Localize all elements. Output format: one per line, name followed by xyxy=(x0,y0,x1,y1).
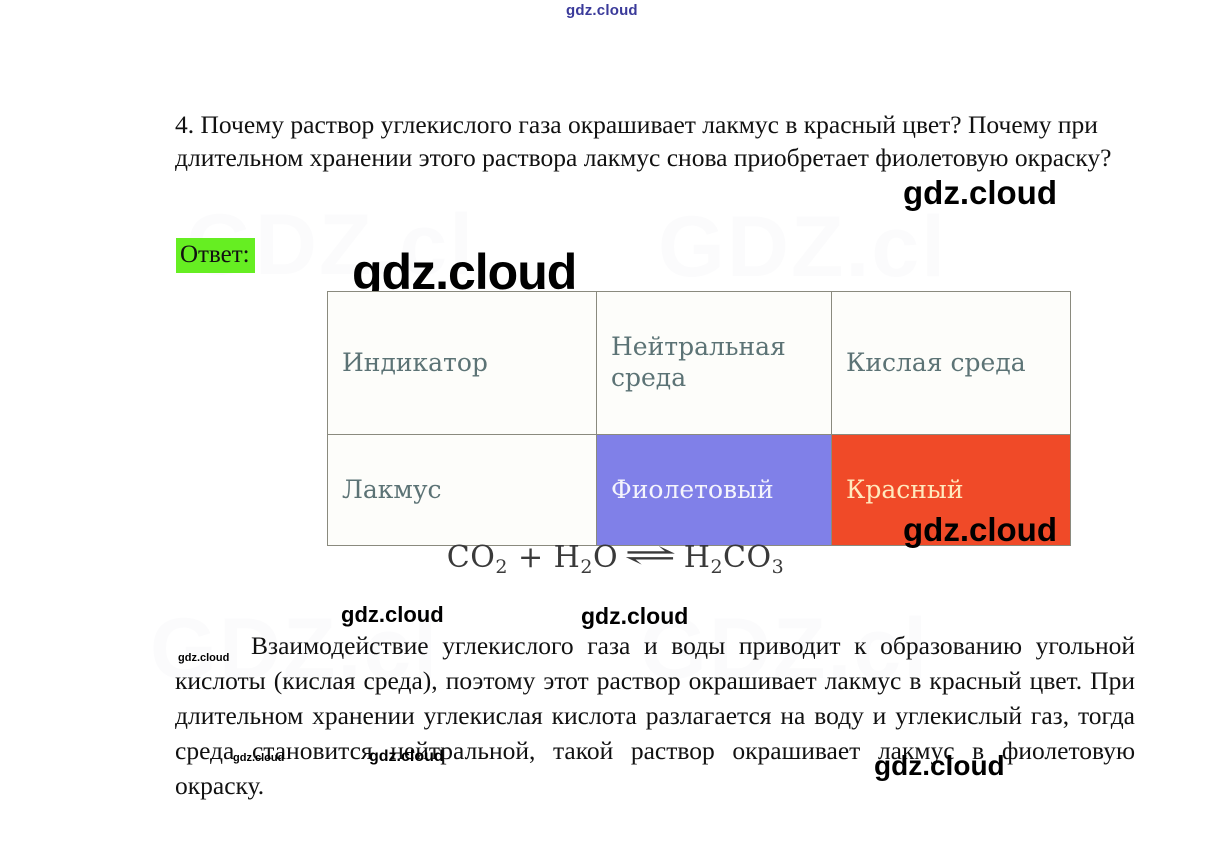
table-cell-indicator-name: Лакмус xyxy=(328,435,597,546)
table-header-row: Индикатор Нейтральная среда Кислая среда xyxy=(328,292,1071,435)
equation-reactant-1: CO2 xyxy=(447,540,508,575)
equation-co-text: CO xyxy=(447,540,496,575)
equation-plus: + xyxy=(518,540,544,575)
equation-h-sub: 2 xyxy=(580,556,593,578)
indicator-table: Индикатор Нейтральная среда Кислая среда… xyxy=(327,291,1071,546)
equation-h-text: H xyxy=(554,540,581,575)
equation-reactant-2: H2O xyxy=(554,540,618,575)
table-row: Лакмус Фиолетовый Красный xyxy=(328,435,1071,546)
watermark-para-center: gdz.cloud xyxy=(581,603,688,630)
table-header-neutral: Нейтральная среда xyxy=(597,292,832,435)
equation-product: H2CO3 xyxy=(684,540,784,575)
table-cell-neutral-color: Фиолетовый xyxy=(597,435,832,546)
equation-product-h: H xyxy=(684,540,711,575)
watermark-para-left: gdz.cloud xyxy=(341,602,444,628)
answer-paragraph: Взаимодействие углекислого газа и воды п… xyxy=(175,628,1135,803)
equation-co-sub: 2 xyxy=(495,556,508,578)
equation-o-text: O xyxy=(593,540,618,575)
equation-product-co-sub: 3 xyxy=(772,556,785,578)
chemical-equation: CO2 + H2O ⇌ H2CO3 xyxy=(0,540,1231,575)
table-cell-acidic-color: Красный xyxy=(832,435,1071,546)
equilibrium-arrow-icon: ⇌ xyxy=(624,538,678,573)
table-header-acidic: Кислая среда xyxy=(832,292,1071,435)
table-header-indicator: Индикатор xyxy=(328,292,597,435)
question-text: 4. Почему раствор углекислого газа окраш… xyxy=(175,108,1120,174)
watermark-right-upper: gdz.cloud xyxy=(903,174,1057,212)
equation-product-co: CO xyxy=(723,540,772,575)
background-watermark: GDZ.cl xyxy=(658,198,947,297)
equation-product-h-sub: 2 xyxy=(710,556,723,578)
answer-label: Ответ: xyxy=(176,238,255,273)
watermark-top: gdz.cloud xyxy=(566,2,638,19)
